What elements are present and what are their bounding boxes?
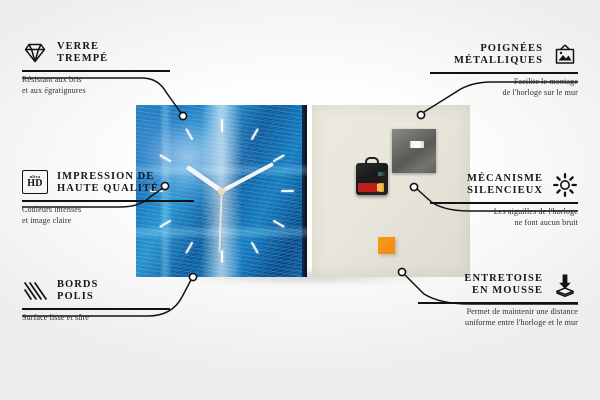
callout-title: BORDSPOLIS — [57, 279, 98, 304]
hanger-loop — [365, 157, 379, 165]
clock-tick — [221, 190, 284, 228]
clock-center-pin — [218, 188, 225, 195]
callout-subtitle: Couleurs intenseset image claire — [22, 205, 194, 226]
clock-movement — [356, 163, 388, 195]
callout-title: MÉCANISMESILENCIEUX — [467, 173, 543, 198]
foam-spacer — [378, 237, 395, 254]
callout-bords-polis[interactable]: BORDSPOLIS Surface lisse et sûre — [22, 278, 170, 324]
clock-tick — [221, 128, 259, 191]
callout-subtitle: Surface lisse et sûre — [22, 313, 170, 324]
callout-title: IMPRESSION DEHAUTE QUALITÉ — [57, 171, 159, 196]
clock-tick — [221, 191, 259, 254]
ultra-hd-icon: ultra HD — [22, 170, 48, 196]
callout-subtitle: Facilite le montagede l'horloge sur le m… — [430, 77, 578, 98]
callout-subtitle: Résistant aux briset aux égratignures — [22, 75, 170, 96]
clock-second-hand — [219, 191, 223, 253]
callout-header: POIGNÉESMÉTALLIQUES — [430, 42, 578, 68]
callout-header: MÉCANISMESILENCIEUX — [430, 172, 578, 198]
callout-rule — [430, 202, 578, 204]
gear-icon — [552, 172, 578, 198]
callout-rule — [418, 302, 578, 304]
callout-rule — [22, 200, 194, 202]
clock-minute-hand — [221, 162, 274, 193]
callout-header: ultra HD IMPRESSION DEHAUTE QUALITÉ — [22, 170, 194, 196]
callout-title: POIGNÉESMÉTALLIQUES — [454, 43, 543, 68]
infographic-canvas: VERRETREMPÉ Résistant aux briset aux égr… — [0, 0, 600, 400]
clock-tick — [221, 119, 223, 191]
callout-mecanisme-silencieux[interactable]: MÉCANISMESILENCIEUX Les aiguilles de l'h… — [430, 172, 578, 228]
hd-icon-main-text: HD — [27, 179, 42, 189]
callout-header: VERRETREMPÉ — [22, 40, 170, 66]
callout-poignees-metalliques[interactable]: POIGNÉESMÉTALLIQUES Facilite le montaged… — [430, 42, 578, 98]
callout-impression-haute-qualite[interactable]: ultra HD IMPRESSION DEHAUTE QUALITÉ Coul… — [22, 170, 194, 226]
diagonal-lines-icon — [22, 278, 48, 304]
callout-rule — [22, 70, 170, 72]
callout-rule — [22, 308, 170, 310]
callout-subtitle: Permet de maintenir une distanceuniforme… — [418, 307, 578, 328]
callout-entretoise-en-mousse[interactable]: ENTRETOISEEN MOUSSE Permet de maintenir … — [418, 272, 578, 328]
callout-header: BORDSPOLIS — [22, 278, 170, 304]
diamond-icon — [22, 40, 48, 66]
movement-detail — [378, 172, 385, 176]
metal-hanger-plate — [392, 129, 436, 173]
battery — [358, 183, 384, 192]
arrow-down-onto-pad-icon — [552, 272, 578, 298]
callout-title: ENTRETOISEEN MOUSSE — [464, 273, 543, 298]
picture-frame-hanging-icon — [552, 42, 578, 68]
clock-tick — [222, 190, 294, 192]
callout-title: VERRETREMPÉ — [57, 41, 108, 66]
clock-tick — [221, 154, 284, 192]
callout-subtitle: Les aiguilles de l'horlogene font aucun … — [430, 207, 578, 228]
clock-tick — [221, 191, 223, 263]
glass-edge — [302, 105, 307, 277]
callout-rule — [430, 72, 578, 74]
callout-header: ENTRETOISEEN MOUSSE — [418, 272, 578, 298]
callout-verre-trempe[interactable]: VERRETREMPÉ Résistant aux briset aux égr… — [22, 40, 170, 96]
